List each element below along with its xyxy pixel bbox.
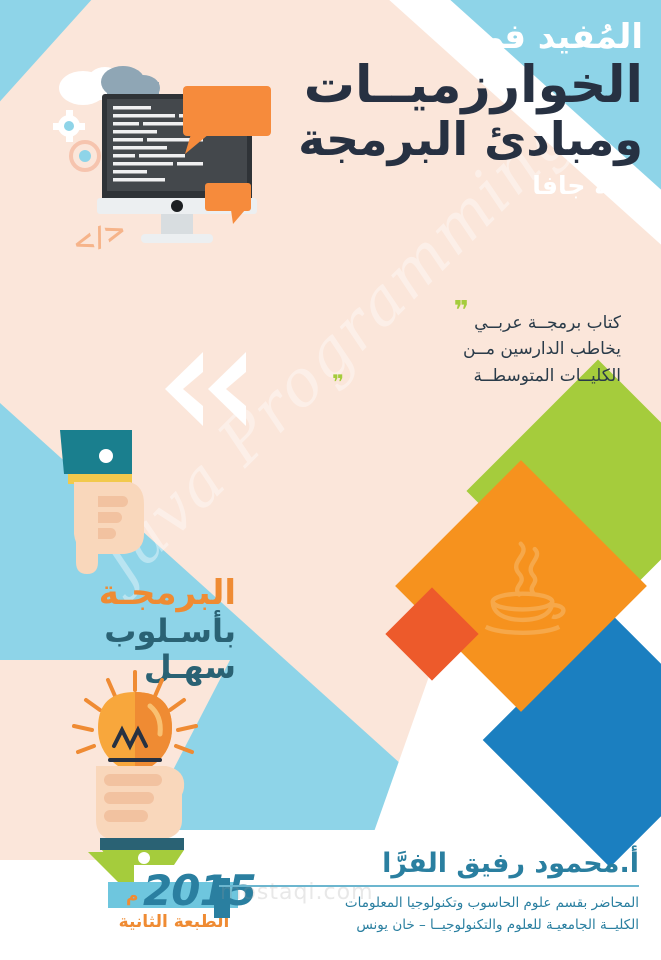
quote-block: ❞ كتاب برمجــة عربــي يخاطب الدارسين مــ… [341,310,621,389]
title-line-2: الخوارزميــات [223,59,643,113]
title-line-1: المُفيد في [223,18,643,57]
java-coffee-cup-icon [470,535,575,640]
watermark-site: mostaqi.com [220,880,480,920]
slogan-line-1: البرمجـة [6,575,236,612]
book-cover: Java Programming [0,0,661,960]
hand-pointing-icon [60,430,200,590]
author-name: أ.محمود رفيق الفرَّا [219,848,639,880]
quote-line-3: الكليــات المتوسطــة [341,363,621,389]
year-suffix: م [126,886,138,906]
hand-holding-icon [62,670,212,865]
quote-open-mark: ❞ [454,298,469,324]
title-line-3: ومبادئ البرمجة [223,115,643,163]
title-block: المُفيد في الخوارزميــات ومبادئ البرمجة … [223,18,643,200]
quote-line-1: كتاب برمجــة عربــي [341,310,621,336]
quote-line-2: يخاطب الدارسين مــن [341,336,621,362]
quote-close-mark: ❞ [332,372,344,392]
title-line-4: بلغة جافا [223,171,643,200]
